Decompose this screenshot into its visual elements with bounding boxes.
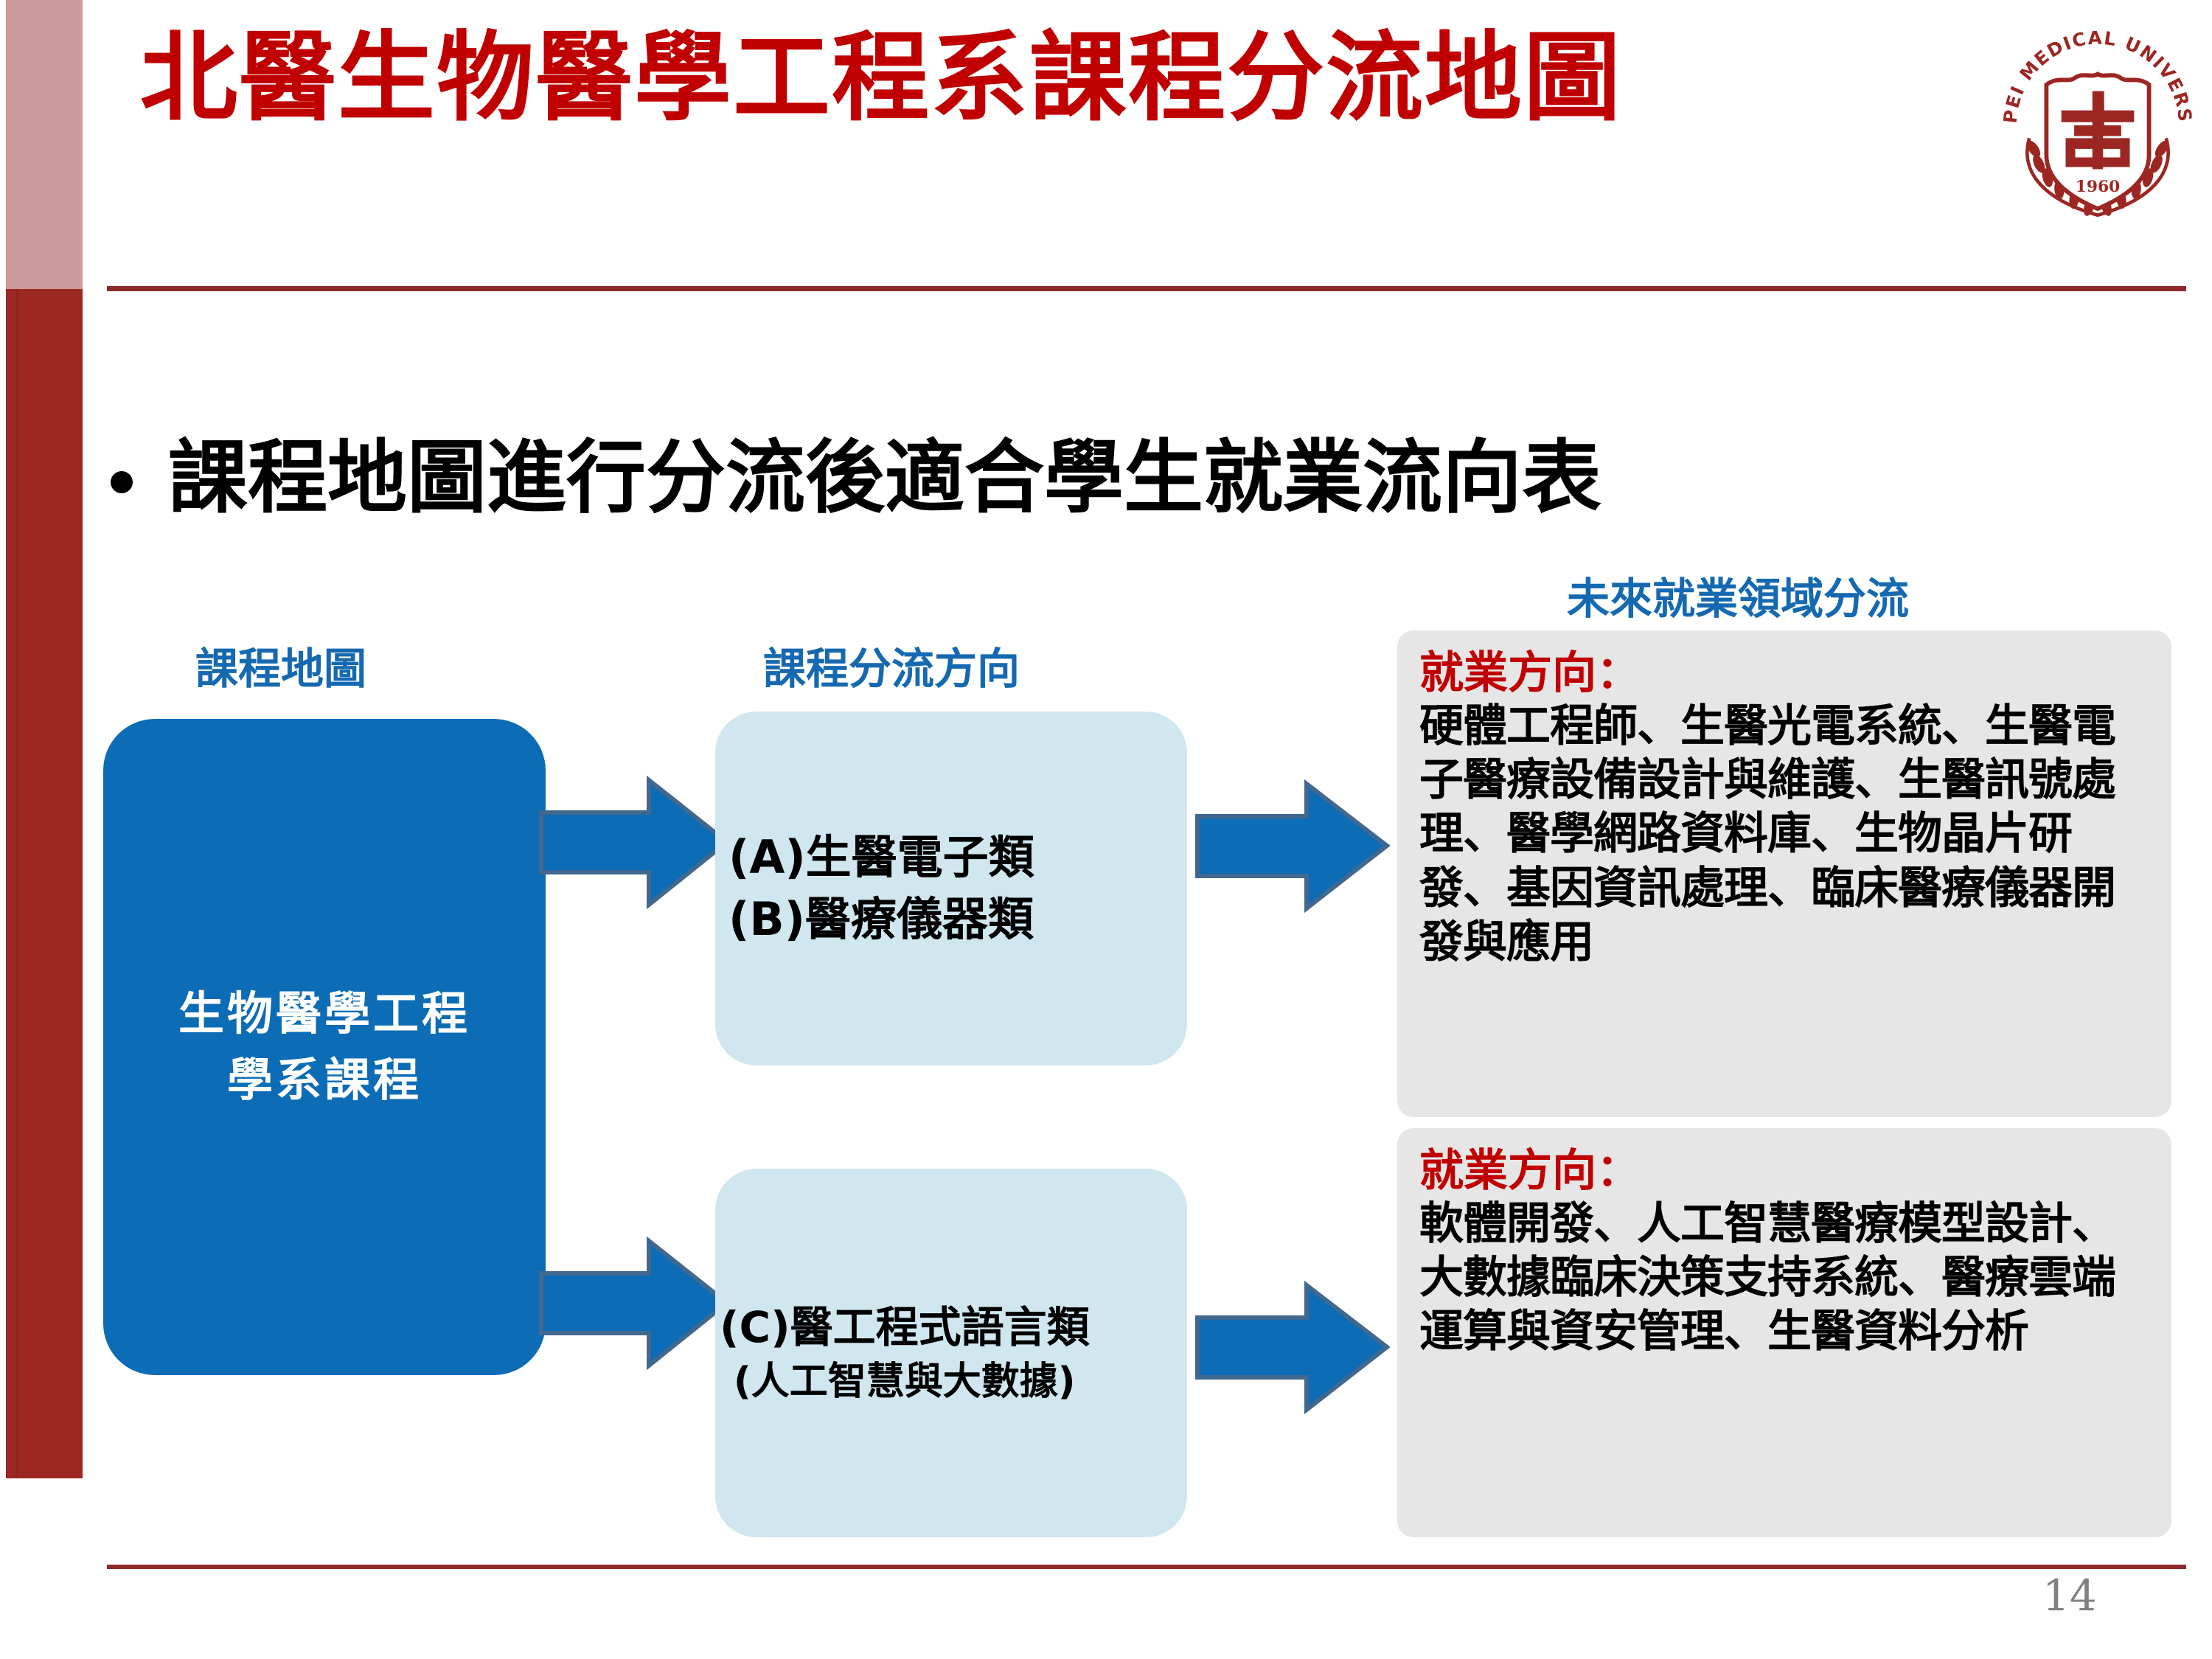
career-outcome-1-body: 硬體工程師、生醫光電系統、生醫電子醫療設備設計與維護、生醫訊號處理、醫學網路資料… [1419,700,2146,970]
box-track-b-label: (B)醫療儀器類 [728,888,1034,950]
footer-divider [107,1565,2186,1569]
box-track-a-label: (A)生醫電子類 [728,827,1034,888]
logo-year: 1960 [2076,178,2121,196]
page-title: 北醫生物醫學工程系課程分流地圖 [140,29,1983,127]
box-track-c: (C)醫工程式語言類 (人工智慧與大數據) [715,1169,1187,1537]
career-outcome-1-heading: 就業方向： [1419,647,2146,700]
box-track-c-sublabel: (人工智慧與大數據) [720,1356,1090,1408]
box-track-a-b: (A)生醫電子類 (B)醫療儀器類 [715,712,1187,1065]
page-number: 14 [2042,1571,2097,1621]
arrow-right-icon-main-to-track2 [538,1235,730,1371]
caption-course-map: 課程地圖 [195,634,366,696]
sidebar-accent-bottom [6,289,83,1478]
box-track-c-label: (C)醫工程式語言類 [720,1298,1090,1356]
bullet-dot-icon [111,471,133,493]
sidebar-accent-top [6,0,83,289]
box-career-outcome-hardware: 就業方向： 硬體工程師、生醫光電系統、生醫電子醫療設備設計與維護、生醫訊號處理、… [1397,630,2171,1117]
header-divider [107,286,2186,291]
box-department-courses-line2: 學系課程 [178,1047,470,1113]
arrow-right-icon-main-to-track1 [538,774,730,911]
career-outcome-2-heading: 就業方向： [1419,1144,2146,1197]
arrow-right-icon-track2-to-outcome2 [1194,1279,1390,1416]
caption-future-field: 未來就業領域分流 [1567,564,1909,626]
caption-track-direction: 課程分流方向 [763,634,1020,696]
box-department-courses: 生物醫學工程 學系課程 [103,719,546,1375]
career-outcome-2-body: 軟體開發、人工智慧醫療模型設計、大數據臨床決策支持系統、醫療雲端運算與資安管理、… [1419,1197,2146,1360]
arrow-right-icon-track1-to-outcome1 [1194,778,1390,914]
bullet-heading: 課程地圖進行分流後適合學生就業流向表 [111,435,1601,523]
box-career-outcome-software: 就業方向： 軟體開發、人工智慧醫療模型設計、大數據臨床決策支持系統、醫療雲端運算… [1397,1128,2171,1537]
box-department-courses-line1: 生物醫學工程 [178,981,470,1047]
bullet-heading-text: 課程地圖進行分流後適合學生就業流向表 [168,435,1601,523]
tmu-logo: TAIPEI MEDICAL UNIVERSITY [1991,18,2205,232]
